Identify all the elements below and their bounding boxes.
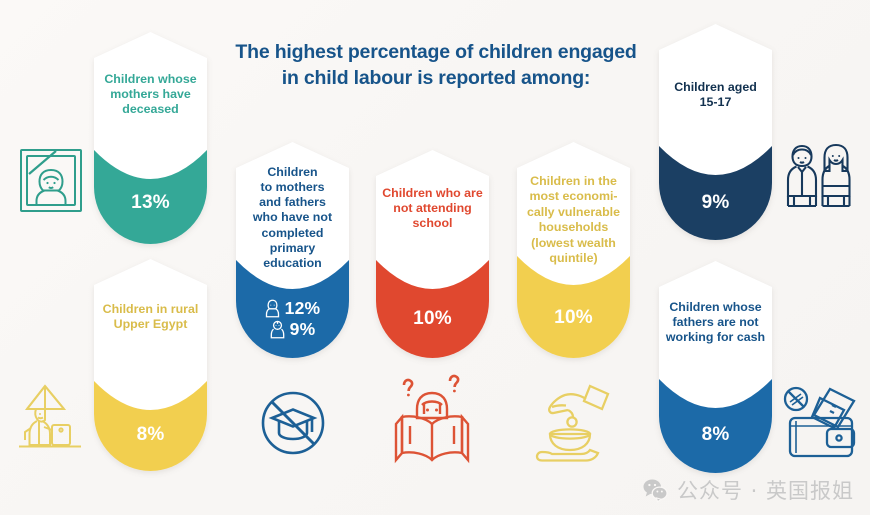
rural-farmer-icon bbox=[14, 380, 86, 452]
wechat-icon bbox=[642, 477, 668, 503]
label-line-3: cally vulnerable bbox=[523, 205, 624, 220]
card-label: Children aged 15-17 bbox=[659, 80, 772, 110]
card-vulnerable-households[interactable]: Children in the most economi- cally vuln… bbox=[517, 142, 630, 358]
value-male: 9% bbox=[290, 321, 316, 339]
card-value: 8% bbox=[94, 424, 207, 446]
card-value: 10% bbox=[517, 307, 630, 329]
child-reading-book-icon-wrap bbox=[386, 372, 478, 466]
card-label: Children in the most economi- cally vuln… bbox=[517, 174, 630, 266]
memorial-portrait-icon-wrap bbox=[18, 146, 84, 214]
wallet-no-cash-icon bbox=[782, 385, 862, 463]
hand-coin-bowl-icon bbox=[528, 382, 614, 464]
label-line-4: households bbox=[523, 220, 624, 235]
card-value: 10% bbox=[376, 308, 489, 330]
rural-farmer-icon-wrap bbox=[14, 380, 86, 452]
card-children-aged-15-17[interactable]: Children aged 15-17 9% bbox=[659, 24, 772, 240]
card-label: Children whose mothers have deceased bbox=[94, 72, 207, 117]
value-row-female: 12% bbox=[236, 299, 349, 318]
wallet-no-cash-icon-wrap bbox=[782, 385, 862, 463]
card-value: 9% bbox=[659, 192, 772, 214]
label-line-5: (lowest wealth bbox=[523, 236, 624, 251]
value-female: 12% bbox=[285, 300, 321, 318]
label-line-2: to mothers bbox=[242, 180, 343, 195]
child-reading-book-icon bbox=[386, 372, 478, 466]
label-line-7: education bbox=[242, 256, 343, 271]
label-line-5: completed bbox=[242, 226, 343, 241]
label-line-6: primary bbox=[242, 241, 343, 256]
card-rural-upper-egypt[interactable]: Children in rural Upper Egypt 8% bbox=[94, 259, 207, 471]
infographic-canvas: The highest percentage of children engag… bbox=[0, 0, 870, 515]
card-label: Children whose fathers are not working f… bbox=[659, 300, 772, 345]
label-line-2: most economi- bbox=[523, 189, 624, 204]
value-row-male: 9% bbox=[236, 320, 349, 339]
card-fathers-not-working-for-cash[interactable]: Children whose fathers are not working f… bbox=[659, 261, 772, 473]
label-line-6: quintile) bbox=[523, 251, 624, 266]
watermark-text: 公众号 · 英国报姐 bbox=[677, 475, 854, 505]
no-graduation-cap-icon bbox=[258, 388, 328, 458]
hand-coin-bowl-icon-wrap bbox=[528, 382, 614, 464]
card-label: Children to mothers and fathers who have… bbox=[236, 165, 349, 271]
card-label: Children who are not attending school bbox=[376, 186, 489, 231]
card-value-group: 12% 9% bbox=[236, 297, 349, 341]
page-title: The highest percentage of children engag… bbox=[228, 40, 644, 92]
card-mothers-deceased[interactable]: Children whose mothers have deceased 13% bbox=[94, 32, 207, 244]
female-person-icon bbox=[265, 299, 280, 318]
no-graduation-cap-icon-wrap bbox=[258, 388, 328, 458]
card-value: 13% bbox=[94, 192, 207, 214]
card-value: 8% bbox=[659, 424, 772, 446]
two-teenagers-icon bbox=[784, 140, 856, 212]
card-label: Children in rural Upper Egypt bbox=[94, 302, 207, 332]
card-not-attending-school[interactable]: Children who are not attending school 10… bbox=[376, 150, 489, 358]
male-person-icon bbox=[270, 320, 285, 339]
label-line-1: Children in the bbox=[523, 174, 624, 189]
watermark: 公众号 · 英国报姐 bbox=[642, 475, 854, 505]
label-line-3: and fathers bbox=[242, 195, 343, 210]
label-line-4: who have not bbox=[242, 210, 343, 225]
label-line-1: Children bbox=[242, 165, 343, 180]
two-teenagers-icon-wrap bbox=[784, 140, 856, 212]
card-parents-no-primary-education[interactable]: Children to mothers and fathers who have… bbox=[236, 142, 349, 358]
memorial-portrait-icon bbox=[18, 146, 84, 214]
